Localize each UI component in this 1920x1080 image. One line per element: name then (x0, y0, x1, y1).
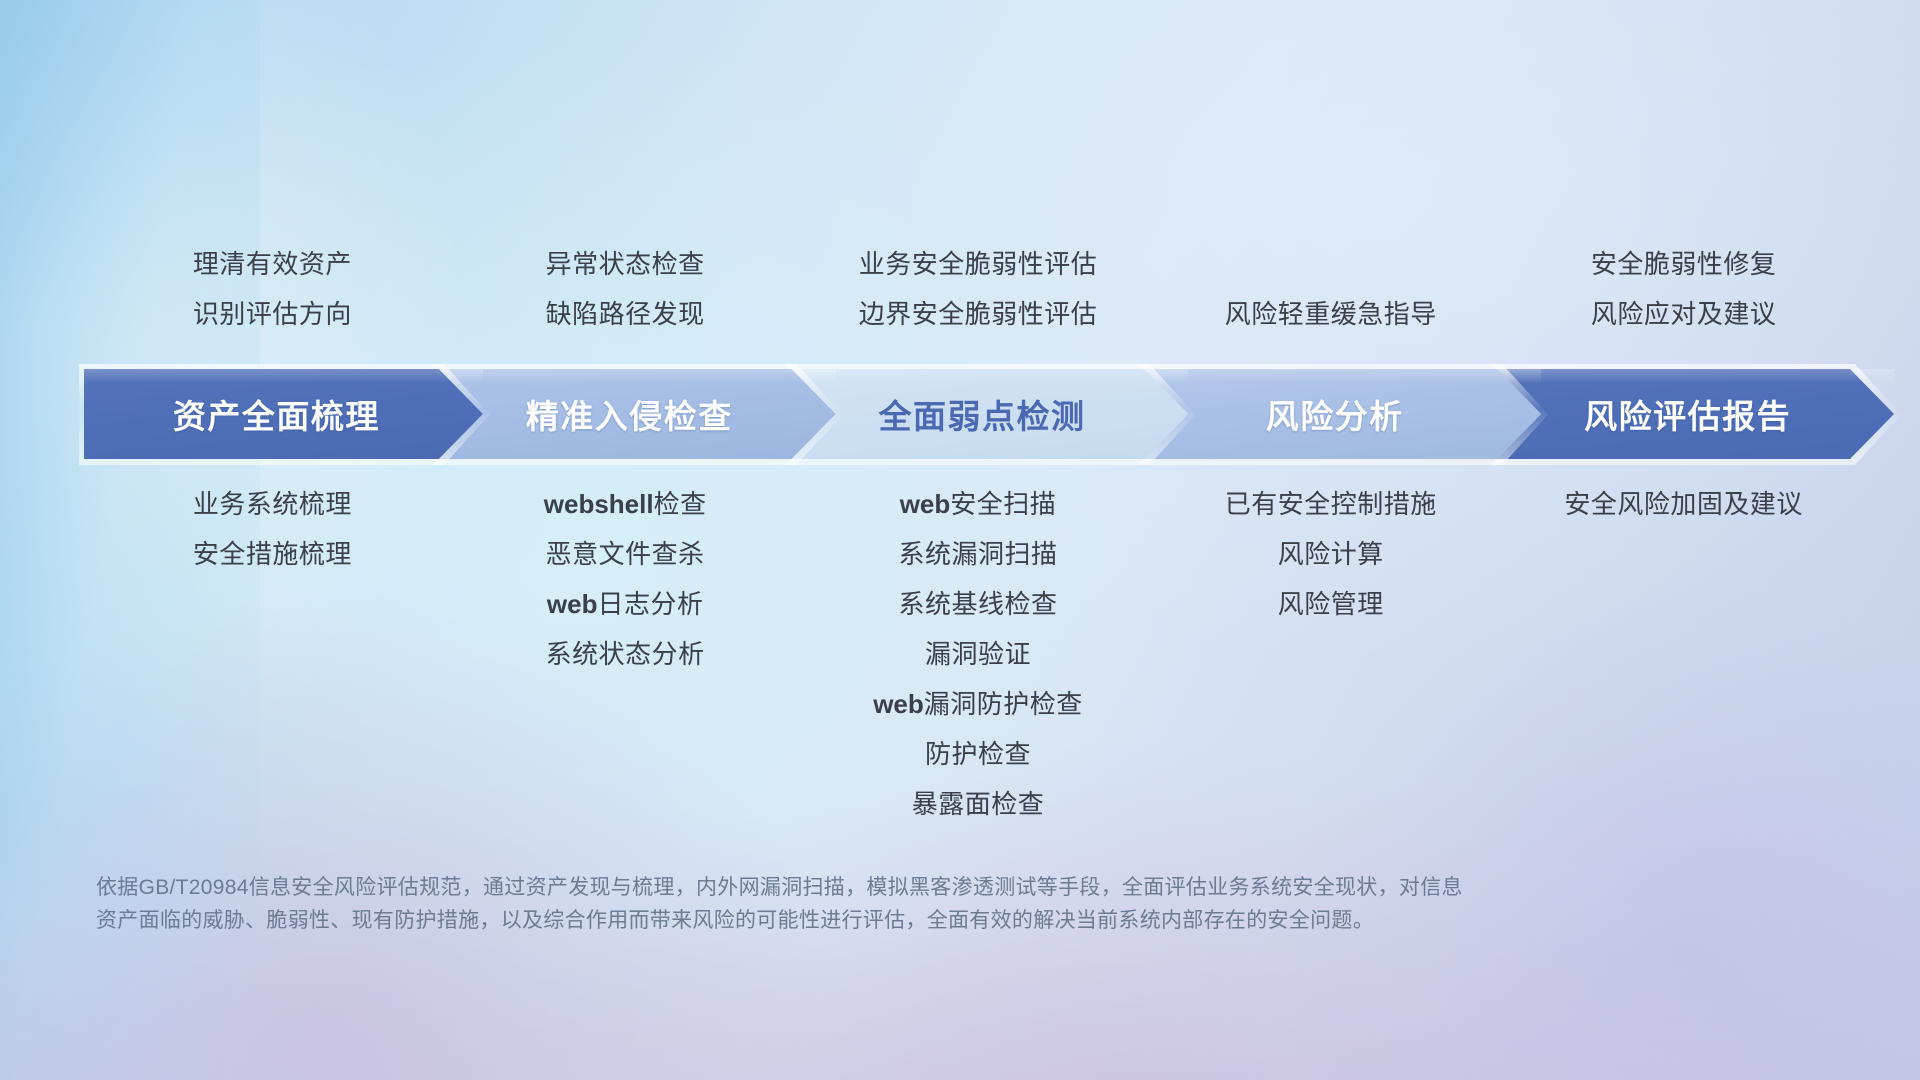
stage-title-weakness-detection: 全面弱点检测 (878, 390, 1085, 438)
stage-chevron-band: 资产全面梳理精准入侵检查全面弱点检测风险分析风险评估报告 (84, 369, 1848, 459)
list-item: 风险计算 (1031, 529, 1631, 579)
list-item: 安全风险加固及建议 (1384, 479, 1920, 529)
list-item: 风险应对及建议 (1384, 289, 1920, 339)
stage-chevron-weakness-detection[interactable]: 全面弱点检测 (790, 369, 1189, 459)
footer-line-2: 资产面临的威胁、脆弱性、现有防护措施，以及综合作用而带来风险的可能性进行评估，全… (96, 904, 1736, 937)
stage-title-risk-analysis: 风险分析 (1266, 390, 1404, 438)
stage-title-risk-report: 风险评估报告 (1584, 390, 1791, 438)
list-item: 漏洞验证 (678, 629, 1278, 679)
list-item: 暴露面检查 (678, 779, 1278, 829)
list-item: 风险管理 (1031, 579, 1631, 629)
footer-line-1: 依据GB/T20984信息安全风险评估规范，通过资产发现与梳理，内外网漏洞扫描，… (96, 871, 1736, 904)
list-item: 安全脆弱性修复 (1384, 239, 1920, 289)
process-diagram: 理清有效资产识别评估方向异常状态检查缺陷路径发现业务安全脆弱性评估边界安全脆弱性… (0, 0, 1920, 1080)
top-list-risk-report: 安全脆弱性修复风险应对及建议 (1384, 239, 1920, 339)
bottom-list-risk-report: 安全风险加固及建议 (1384, 479, 1920, 529)
stage-title-intrusion-check: 精准入侵检查 (526, 390, 733, 438)
list-item: 防护检查 (678, 729, 1278, 779)
footer-description: 依据GB/T20984信息安全风险评估规范，通过资产发现与梳理，内外网漏洞扫描，… (96, 871, 1736, 937)
stage-chevron-intrusion-check[interactable]: 精准入侵检查 (437, 369, 836, 459)
list-item: web漏洞防护检查 (678, 679, 1278, 729)
stage-chevron-risk-report[interactable]: 风险评估报告 (1495, 369, 1894, 459)
stage-chevron-risk-analysis[interactable]: 风险分析 (1142, 369, 1541, 459)
stage-chevron-asset-inventory[interactable]: 资产全面梳理 (84, 369, 483, 459)
list-item: 业务安全脆弱性评估 (678, 239, 1278, 289)
stage-title-asset-inventory: 资产全面梳理 (173, 390, 380, 438)
